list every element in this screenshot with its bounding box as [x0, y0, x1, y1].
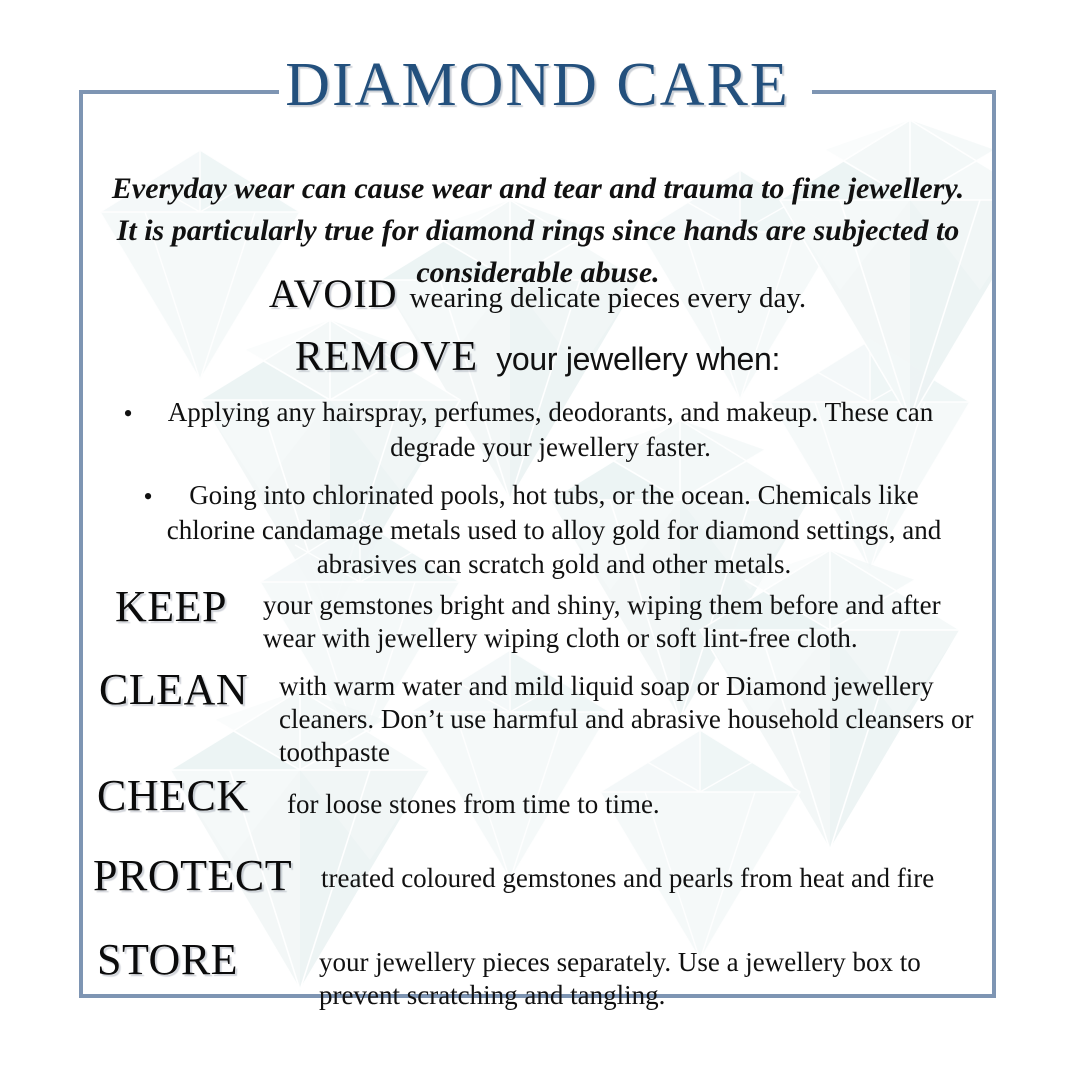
section-keep: KEEP your gemstones bright and shiny, wi…: [115, 585, 1032, 655]
avoid-text: wearing delicate pieces every day.: [410, 282, 807, 314]
section-clean-keyword: CLEAN: [99, 668, 279, 712]
section-store: STORE your jewellery pieces separately. …: [97, 938, 1014, 1012]
section-check-text: for loose stones from time to time.: [287, 774, 967, 821]
page-title: DIAMOND CARE: [79, 54, 996, 116]
poster-canvas: DIAMOND CARE Everyday wear can cause wea…: [0, 0, 1080, 1080]
section-keep-text: your gemstones bright and shiny, wiping …: [263, 585, 973, 655]
bullet-icon: •: [137, 478, 159, 514]
section-protect: PROTECT treated coloured gemstones and p…: [93, 854, 1010, 898]
avoid-row: AVOIDwearing delicate pieces every day.: [79, 270, 996, 317]
section-clean-text: with warm water and mild liquid soap or …: [279, 668, 999, 769]
remove-row: REMOVEyour jewellery when:: [79, 333, 996, 381]
list-item-text: Going into chlorinated pools, hot tubs, …: [159, 478, 949, 582]
remove-text: your jewellery when:: [496, 341, 780, 377]
section-keep-keyword: KEEP: [115, 585, 263, 629]
avoid-keyword: AVOID: [269, 271, 398, 316]
section-protect-text: treated coloured gemstones and pearls fr…: [321, 854, 961, 895]
poster-content: DIAMOND CARE Everyday wear can cause wea…: [79, 90, 996, 998]
section-store-keyword: STORE: [97, 938, 319, 982]
list-item: • Applying any hairspray, perfumes, deod…: [117, 395, 962, 464]
list-item: • Going into chlorinated pools, hot tubs…: [137, 478, 962, 582]
bullet-icon: •: [117, 395, 139, 431]
section-store-text: your jewellery pieces separately. Use a …: [319, 938, 979, 1012]
list-item-text: Applying any hairspray, perfumes, deodor…: [139, 395, 962, 464]
section-check-keyword: CHECK: [97, 774, 287, 818]
section-clean: CLEAN with warm water and mild liquid so…: [99, 668, 1016, 769]
remove-keyword: REMOVE: [295, 334, 478, 380]
section-protect-keyword: PROTECT: [93, 854, 321, 898]
remove-bullet-list: • Applying any hairspray, perfumes, deod…: [117, 395, 962, 596]
section-check: CHECK for loose stones from time to time…: [97, 774, 1014, 821]
